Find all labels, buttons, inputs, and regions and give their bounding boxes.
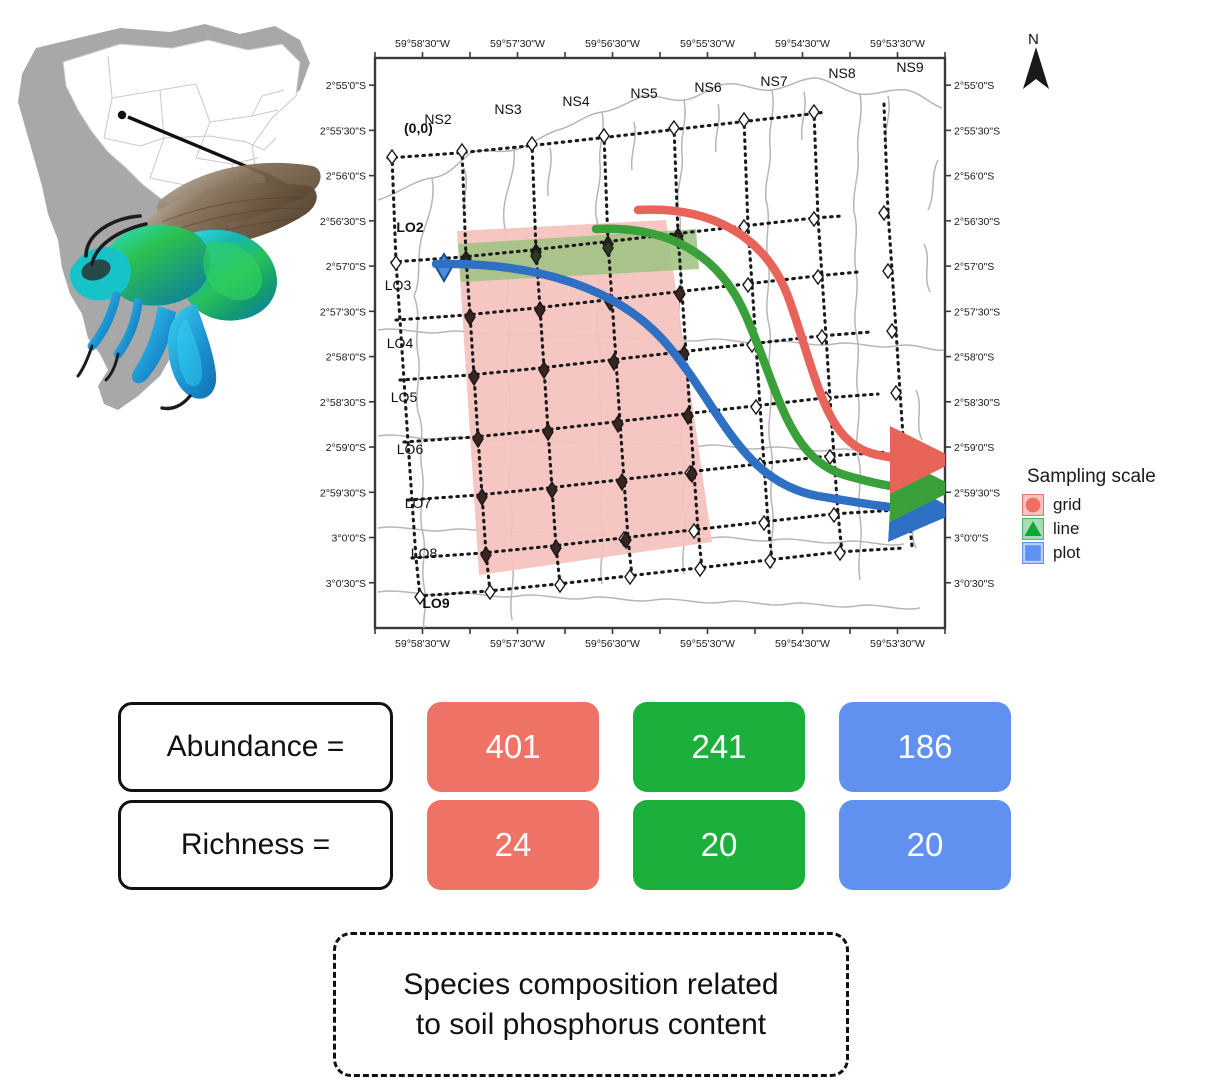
svg-text:2°56'0"S: 2°56'0"S <box>954 171 994 183</box>
svg-text:2°58'0"S: 2°58'0"S <box>326 352 366 364</box>
svg-text:NS9: NS9 <box>896 59 923 75</box>
figure-root: 59°58'30"W59°57'30"W59°56'30"W59°55'30"W… <box>0 0 1226 1085</box>
svg-text:2°56'30"S: 2°56'30"S <box>320 216 366 228</box>
svg-text:2°58'0"S: 2°58'0"S <box>954 352 994 364</box>
svg-text:2°55'0"S: 2°55'0"S <box>954 80 994 92</box>
north-arrow: N <box>1016 33 1056 95</box>
richness-label: Richness = <box>118 800 393 890</box>
legend-label-line: line <box>1053 519 1079 539</box>
svg-text:2°59'30"S: 2°59'30"S <box>954 487 1000 499</box>
svg-text:59°53'30"W: 59°53'30"W <box>870 638 925 650</box>
abundance-plot-value: 186 <box>839 702 1011 792</box>
svg-text:NS6: NS6 <box>694 79 721 95</box>
stats-row-richness: Richness = 24 20 20 <box>118 800 1018 890</box>
svg-text:NS2: NS2 <box>424 111 451 127</box>
map-legend: Sampling scale grid line <box>1022 466 1222 565</box>
svg-text:2°58'30"S: 2°58'30"S <box>320 397 366 409</box>
svg-text:59°57'30"W: 59°57'30"W <box>490 638 545 650</box>
svg-text:NS5: NS5 <box>630 85 657 101</box>
svg-text:LO2: LO2 <box>396 219 423 235</box>
svg-text:59°54'30"W: 59°54'30"W <box>775 638 830 650</box>
svg-text:59°58'30"W: 59°58'30"W <box>395 638 450 650</box>
conclusion-box: Species composition related to soil phos… <box>333 932 849 1077</box>
legend-label-grid: grid <box>1053 495 1081 515</box>
legend-item-line[interactable]: line <box>1022 517 1222 541</box>
circle-swatch <box>1022 494 1044 516</box>
svg-text:2°57'0"S: 2°57'0"S <box>326 261 366 273</box>
svg-text:LO5: LO5 <box>391 389 418 405</box>
summary-stats: Abundance = 401 241 186 Richness = 24 20… <box>118 702 1018 898</box>
svg-text:59°55'30"W: 59°55'30"W <box>680 38 735 50</box>
abundance-grid-value: 401 <box>427 702 599 792</box>
svg-text:3°0'30"S: 3°0'30"S <box>326 578 366 590</box>
locator-inset <box>0 18 330 413</box>
north-label: N <box>1028 31 1039 48</box>
conclusion-line-1: Species composition related <box>403 968 778 1001</box>
richness-grid-value: 24 <box>427 800 599 890</box>
svg-text:LO7: LO7 <box>405 495 432 511</box>
svg-text:2°55'0"S: 2°55'0"S <box>326 80 366 92</box>
svg-text:2°56'0"S: 2°56'0"S <box>326 171 366 183</box>
legend-label-plot: plot <box>1053 543 1080 563</box>
svg-text:2°57'0"S: 2°57'0"S <box>954 261 994 273</box>
svg-text:2°55'30"S: 2°55'30"S <box>320 125 366 137</box>
study-area-map: 59°58'30"W59°57'30"W59°56'30"W59°55'30"W… <box>318 30 1008 650</box>
orchid-bee-image <box>0 18 330 413</box>
svg-text:3°0'0"S: 3°0'0"S <box>954 533 988 545</box>
svg-text:LO6: LO6 <box>397 441 424 457</box>
svg-text:NS7: NS7 <box>760 73 787 89</box>
svg-text:2°55'30"S: 2°55'30"S <box>954 125 1000 137</box>
svg-text:2°58'30"S: 2°58'30"S <box>954 397 1000 409</box>
svg-text:2°59'0"S: 2°59'0"S <box>326 442 366 454</box>
svg-text:NS8: NS8 <box>828 65 855 81</box>
svg-text:LO9: LO9 <box>422 595 449 611</box>
richness-plot-value: 20 <box>839 800 1011 890</box>
svg-text:LO3: LO3 <box>385 277 412 293</box>
svg-text:2°56'30"S: 2°56'30"S <box>954 216 1000 228</box>
legend-item-grid[interactable]: grid <box>1022 493 1222 517</box>
svg-text:59°58'30"W: 59°58'30"W <box>395 38 450 50</box>
conclusion-line-2: to soil phosphorus content <box>416 1008 766 1041</box>
svg-text:2°59'0"S: 2°59'0"S <box>954 442 994 454</box>
svg-text:59°56'30"W: 59°56'30"W <box>585 38 640 50</box>
triangle-swatch <box>1022 518 1044 540</box>
svg-text:59°55'30"W: 59°55'30"W <box>680 638 735 650</box>
svg-text:NS3: NS3 <box>494 101 521 117</box>
svg-text:59°56'30"W: 59°56'30"W <box>585 638 640 650</box>
svg-text:2°57'30"S: 2°57'30"S <box>954 306 1000 318</box>
abundance-line-value: 241 <box>633 702 805 792</box>
svg-text:59°57'30"W: 59°57'30"W <box>490 38 545 50</box>
svg-text:2°57'30"S: 2°57'30"S <box>320 306 366 318</box>
richness-line-value: 20 <box>633 800 805 890</box>
svg-text:3°0'0"S: 3°0'0"S <box>332 533 366 545</box>
legend-item-plot[interactable]: plot <box>1022 541 1222 565</box>
square-swatch <box>1022 542 1044 564</box>
svg-text:59°54'30"W: 59°54'30"W <box>775 38 830 50</box>
legend-title: Sampling scale <box>1027 466 1222 488</box>
stats-row-abundance: Abundance = 401 241 186 <box>118 702 1018 792</box>
svg-text:NS4: NS4 <box>562 93 589 109</box>
abundance-label: Abundance = <box>118 702 393 792</box>
svg-text:LO8: LO8 <box>411 545 438 561</box>
svg-text:59°53'30"W: 59°53'30"W <box>870 38 925 50</box>
svg-text:LO4: LO4 <box>387 335 414 351</box>
svg-text:2°59'30"S: 2°59'30"S <box>320 487 366 499</box>
svg-text:3°0'30"S: 3°0'30"S <box>954 578 994 590</box>
